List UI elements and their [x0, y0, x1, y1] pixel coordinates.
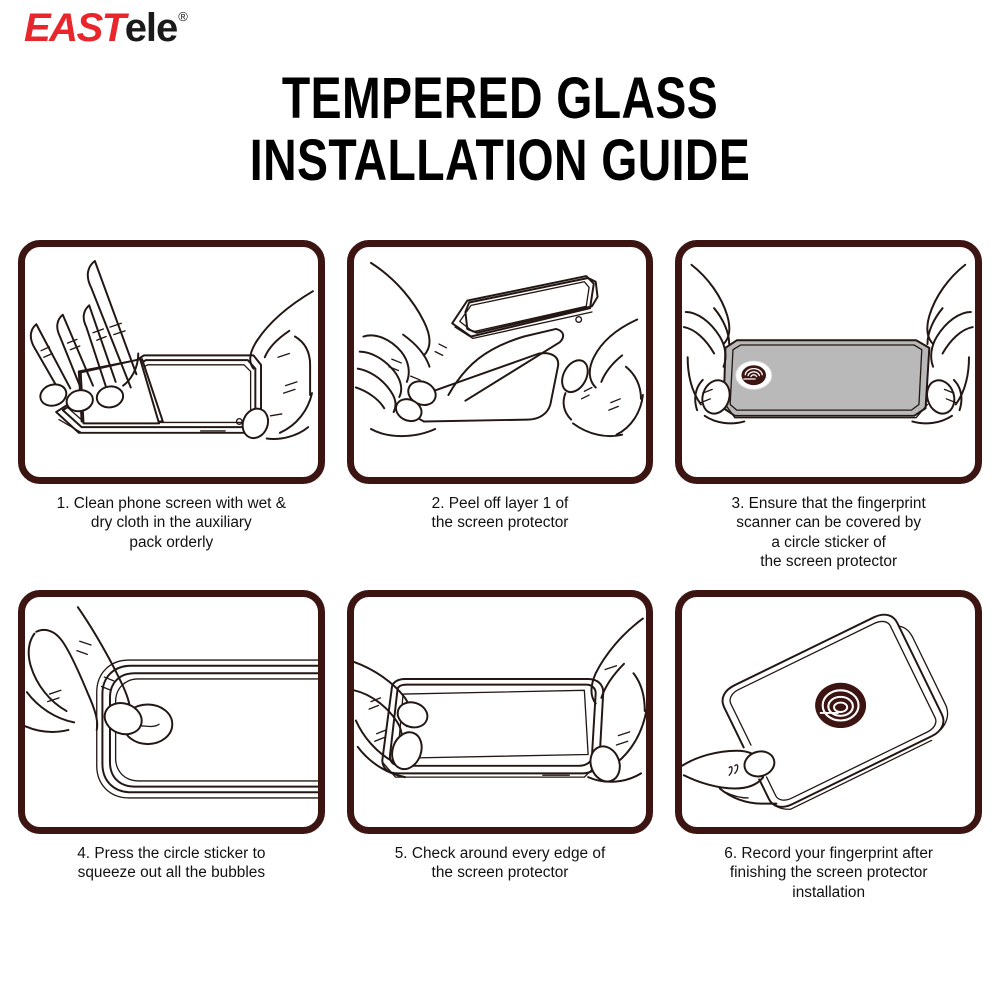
step-2-illustration-frame	[347, 240, 654, 484]
step-2-number: 2.	[432, 495, 445, 512]
step-4-caption: 4. Press the circle sticker to squeeze o…	[18, 844, 325, 914]
title-line-2: INSTALLATION GUIDE	[100, 130, 900, 192]
step-2-text: Peel off layer 1 of the screen protector	[432, 495, 569, 531]
hand-wiping-phone-icon	[25, 247, 318, 477]
step-2: 2. Peel off layer 1 of the screen protec…	[347, 240, 654, 590]
step-5: 5. Check around every edge of the screen…	[347, 590, 654, 914]
brand-name-black: ele	[125, 8, 178, 48]
step-4: 4. Press the circle sticker to squeeze o…	[18, 590, 325, 914]
step-6-number: 6.	[724, 845, 737, 862]
fingerprint-icon	[742, 365, 767, 385]
fingerprint-record-icon	[815, 683, 866, 728]
step-3-illustration-frame	[675, 240, 982, 484]
registered-trademark-icon: ®	[178, 10, 188, 23]
step-5-illustration-frame	[347, 590, 654, 834]
fingerprint-scanner-coverage-icon	[682, 247, 975, 477]
peel-protector-layer-icon	[354, 247, 647, 477]
installation-steps-grid: 1. Clean phone screen with wet & dry clo…	[18, 240, 982, 914]
step-2-caption: 2. Peel off layer 1 of the screen protec…	[347, 494, 654, 590]
step-6-text: Record your fingerprint after finishing …	[730, 845, 933, 901]
step-3-number: 3.	[732, 495, 745, 512]
step-1: 1. Clean phone screen with wet & dry clo…	[18, 240, 325, 590]
brand-logo: EAST ele ®	[24, 8, 188, 48]
step-6-caption: 6. Record your fingerprint after finishi…	[675, 844, 982, 914]
title-line-1: TEMPERED GLASS	[100, 68, 900, 130]
step-5-number: 5.	[395, 845, 408, 862]
record-fingerprint-icon	[682, 597, 975, 827]
step-1-number: 1.	[57, 495, 70, 512]
step-1-caption: 1. Clean phone screen with wet & dry clo…	[18, 494, 325, 590]
step-6-illustration-frame	[675, 590, 982, 834]
step-4-illustration-frame	[18, 590, 325, 834]
step-3-caption: 3. Ensure that the fingerprint scanner c…	[675, 494, 982, 590]
step-6: 6. Record your fingerprint after finishi…	[675, 590, 982, 914]
page-title: TEMPERED GLASS INSTALLATION GUIDE	[0, 68, 1000, 192]
check-edges-icon	[354, 597, 647, 827]
step-5-caption: 5. Check around every edge of the screen…	[347, 844, 654, 914]
press-circle-sticker-icon	[25, 597, 318, 827]
step-3: 3. Ensure that the fingerprint scanner c…	[675, 240, 982, 590]
step-4-text: Press the circle sticker to squeeze out …	[78, 845, 266, 881]
step-4-number: 4.	[77, 845, 90, 862]
step-1-illustration-frame	[18, 240, 325, 484]
step-1-text: Clean phone screen with wet & dry cloth …	[74, 495, 286, 551]
step-3-text: Ensure that the fingerprint scanner can …	[736, 495, 926, 570]
brand-name-red: EAST	[24, 8, 125, 48]
step-5-text: Check around every edge of the screen pr…	[412, 845, 605, 881]
